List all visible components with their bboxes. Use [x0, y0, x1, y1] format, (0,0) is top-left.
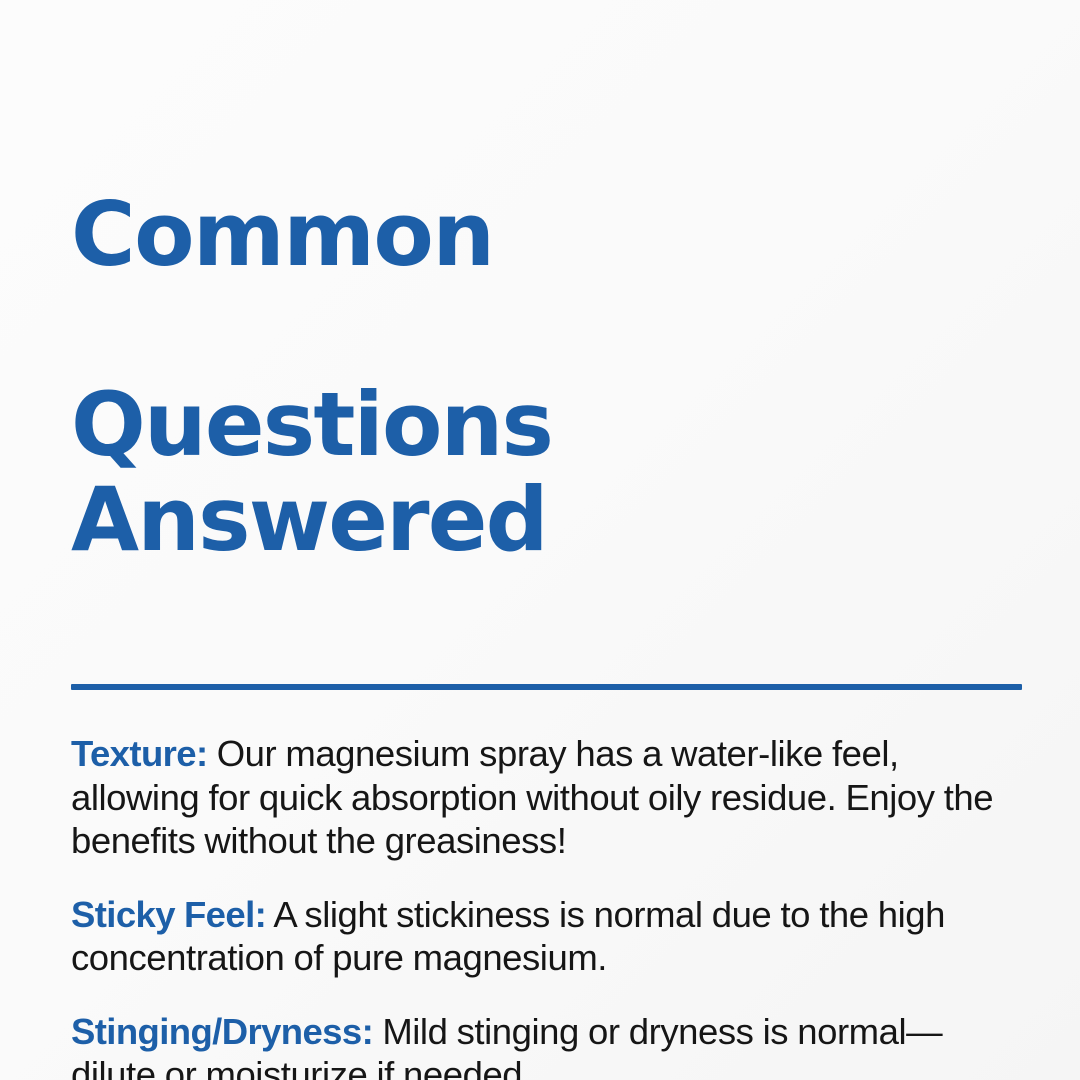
faq-label-stinging-dryness: Stinging/Dryness:: [71, 1011, 373, 1052]
page-title-line-1: Common: [71, 187, 1023, 282]
faq-item-stinging-dryness: Stinging/Dryness: Mild stinging or dryne…: [71, 1010, 1023, 1080]
faq-label-sticky-feel: Sticky Feel:: [71, 894, 266, 935]
faq-item-sticky-feel: Sticky Feel: A slight stickiness is norm…: [71, 893, 1023, 980]
faq-item-texture: Texture: Our magnesium spray has a water…: [71, 732, 1023, 863]
page-title-line-2: Questions Answered: [71, 377, 1023, 567]
faq-card: Common Questions Answered Texture: Our m…: [0, 0, 1080, 1080]
title-divider: [71, 684, 1022, 690]
card-content: Common Questions Answered Texture: Our m…: [71, 92, 1023, 1080]
page-title: Common Questions Answered: [71, 92, 1023, 662]
faq-text-texture: Our magnesium spray has a water-like fee…: [71, 733, 993, 861]
faq-list: Texture: Our magnesium spray has a water…: [71, 732, 1023, 1080]
faq-label-texture: Texture:: [71, 733, 208, 774]
